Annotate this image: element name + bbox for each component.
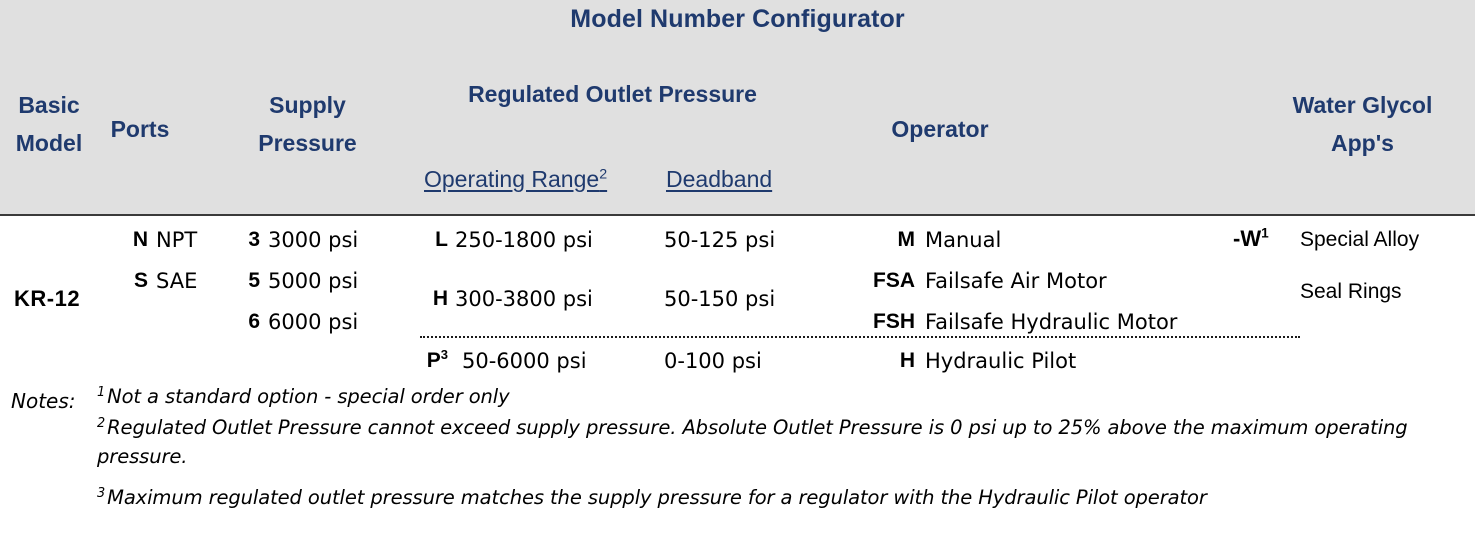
column-header-operator: Operator: [855, 110, 1025, 148]
cell-supply-value: 6000 psi: [268, 310, 358, 334]
column-header-ports: Ports: [95, 110, 185, 148]
column-header-basic-model-line2: Model: [0, 124, 98, 162]
cell-water-glycol-code-footnote: 1: [1261, 226, 1269, 241]
column-header-basic-model: Basic Model: [0, 86, 98, 162]
note-text: Not a standard option - special order on…: [107, 385, 509, 408]
cell-supply-code: 6: [240, 310, 260, 334]
cell-operator-code: FSA: [855, 269, 915, 293]
table-header: Model Number Configurator Basic Model Po…: [0, 0, 1475, 216]
subheader-operating-range-label: Operating Range: [424, 166, 599, 192]
cell-rop-code-label: P: [427, 349, 441, 372]
column-header-supply-pressure-line2: Pressure: [230, 124, 385, 162]
note-marker: 2: [97, 416, 105, 431]
column-header-water-glycol-line2: App's: [1260, 124, 1465, 162]
cell-deadband: 0-100 psi: [664, 349, 762, 373]
cell-supply-value: 5000 psi: [268, 269, 358, 293]
cell-operating-range: 50-6000 psi: [462, 349, 587, 373]
column-header-supply-pressure: Supply Pressure: [230, 86, 385, 162]
cell-supply-code: 3: [240, 228, 260, 252]
column-header-water-glycol: Water Glycol App's: [1260, 86, 1465, 162]
cell-supply-code: 5: [240, 269, 260, 293]
cell-operating-range: 250-1800 psi: [455, 228, 593, 252]
subheader-operating-range-footnote: 2: [599, 166, 607, 182]
cell-deadband: 50-125 psi: [664, 228, 775, 252]
page-title: Model Number Configurator: [0, 5, 1475, 34]
subheader-operating-range: Operating Range2: [424, 166, 607, 193]
note-marker: 3: [97, 486, 105, 501]
cell-operator-code: FSH: [855, 310, 915, 334]
note-item: 2Regulated Outlet Pressure cannot exceed…: [97, 413, 1462, 471]
cell-water-glycol-code-label: -W: [1233, 226, 1261, 251]
cell-supply-value: 3000 psi: [268, 228, 358, 252]
row-divider-dotted: [420, 336, 1300, 338]
subheader-deadband: Deadband: [666, 166, 772, 193]
note-text: Maximum regulated outlet pressure matche…: [107, 486, 1207, 509]
cell-port-code: N: [118, 228, 148, 252]
cell-operating-range: 300-3800 psi: [455, 287, 593, 311]
cell-deadband: 50-150 psi: [664, 287, 775, 311]
cell-operator-value: Failsafe Hydraulic Motor: [925, 310, 1177, 334]
notes-body: 1Not a standard option - special order o…: [97, 382, 1462, 514]
note-text: Regulated Outlet Pressure cannot exceed …: [97, 416, 1408, 468]
cell-rop-code-footnote: 3: [441, 347, 448, 362]
cell-rop-code: H: [420, 287, 448, 311]
note-item: 3Maximum regulated outlet pressure match…: [97, 483, 1462, 512]
notes-label: Notes:: [11, 389, 76, 413]
model-number-configurator-sheet: Model Number Configurator Basic Model Po…: [0, 0, 1475, 539]
cell-operator-value: Manual: [925, 228, 1001, 252]
table-body: KR-12 N NPT S SAE 3 3000 psi 5 5000 psi …: [0, 218, 1475, 378]
cell-port-code: S: [118, 269, 148, 293]
cell-water-glycol-value-line1: Special Alloy: [1300, 228, 1419, 252]
column-header-supply-pressure-line1: Supply: [230, 86, 385, 124]
cell-rop-code: L: [420, 228, 448, 252]
column-header-basic-model-line1: Basic: [0, 86, 98, 124]
cell-rop-code: P3: [420, 349, 448, 373]
cell-water-glycol-code: -W1: [1233, 226, 1269, 252]
cell-operator-value: Hydraulic Pilot: [925, 349, 1076, 373]
note-item: 1Not a standard option - special order o…: [97, 382, 1462, 411]
cell-operator-code: M: [855, 228, 915, 252]
cell-basic-model: KR-12: [14, 286, 80, 312]
cell-operator-code: H: [855, 349, 915, 373]
cell-operator-value: Failsafe Air Motor: [925, 269, 1107, 293]
note-marker: 1: [97, 385, 105, 400]
cell-port-value: NPT: [156, 228, 197, 252]
column-header-regulated-outlet-pressure: Regulated Outlet Pressure: [415, 75, 810, 113]
cell-water-glycol-value-line2: Seal Rings: [1300, 280, 1402, 304]
column-header-water-glycol-line1: Water Glycol: [1260, 86, 1465, 124]
cell-port-value: SAE: [156, 269, 197, 293]
